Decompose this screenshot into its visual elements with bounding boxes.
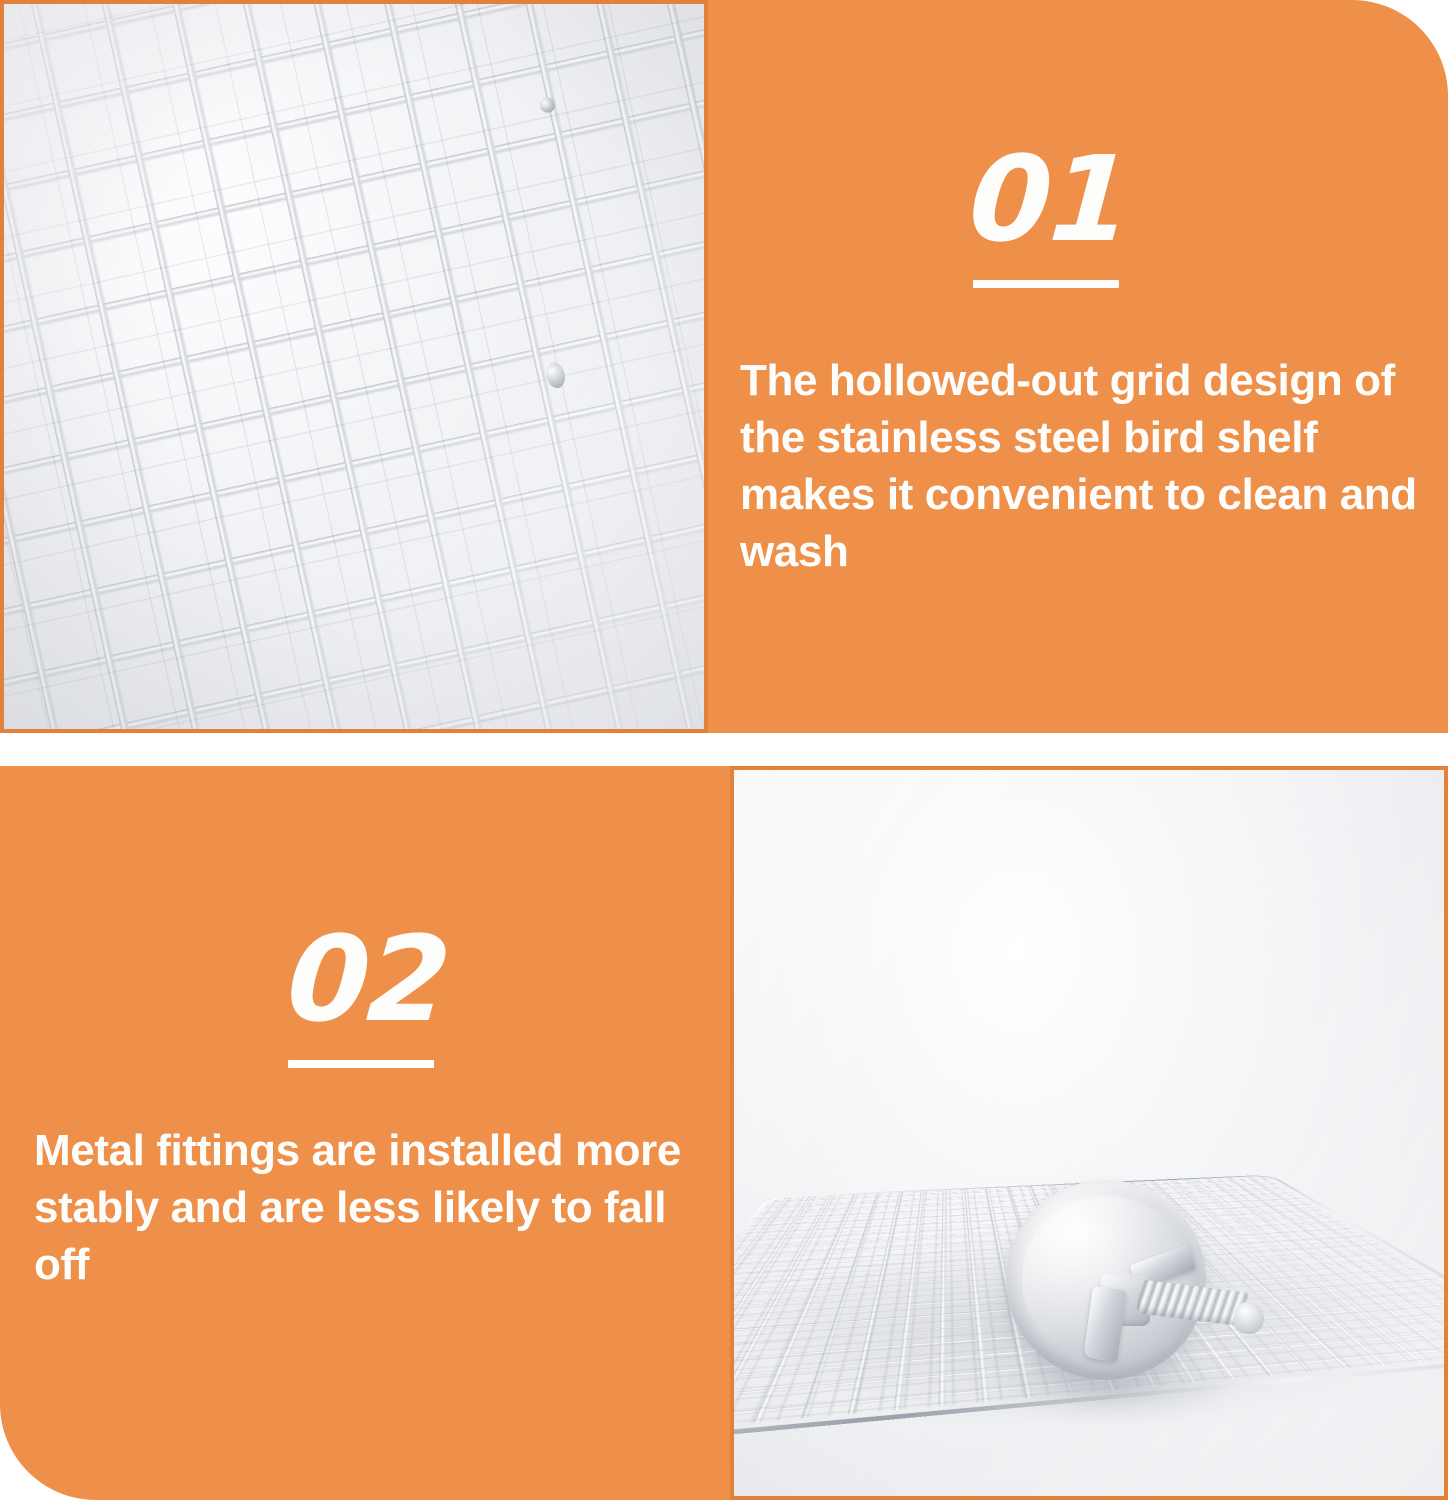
feature-badge-1: 01 (970, 140, 1130, 288)
product-feature-infographic: 01 The hollowed-out grid design of the s… (0, 0, 1448, 1500)
feature-row-2: 02 Metal fittings are installed more sta… (0, 766, 1448, 1500)
wire-mesh-sheet (4, 4, 704, 729)
feature-badge-rule (288, 1060, 434, 1068)
feature-row-1: 01 The hollowed-out grid design of the s… (0, 0, 1448, 733)
photo-inner-2 (734, 770, 1444, 1496)
feature-photo-metal-fitting (730, 766, 1448, 1500)
feature-photo-grid-mesh (0, 0, 708, 733)
feature-copy-panel-2: 02 Metal fittings are installed more sta… (0, 766, 730, 1500)
feature-number-01: 01 (966, 140, 1134, 258)
feature-number-02: 02 (284, 920, 452, 1038)
metal-fitting-assembly (1006, 1180, 1276, 1430)
fitting-bolt-tip-icon (1232, 1300, 1266, 1335)
photo-inner-1 (4, 4, 704, 729)
feature-badge-2: 02 (288, 920, 448, 1068)
feature-description-1: The hollowed-out grid design of the stai… (740, 352, 1422, 580)
feature-badge-rule (973, 280, 1119, 288)
feature-description-2: Metal fittings are installed more stably… (34, 1122, 724, 1293)
feature-copy-panel-1: 01 The hollowed-out grid design of the s… (708, 0, 1448, 733)
wire-mesh-frame-rail (4, 4, 704, 729)
